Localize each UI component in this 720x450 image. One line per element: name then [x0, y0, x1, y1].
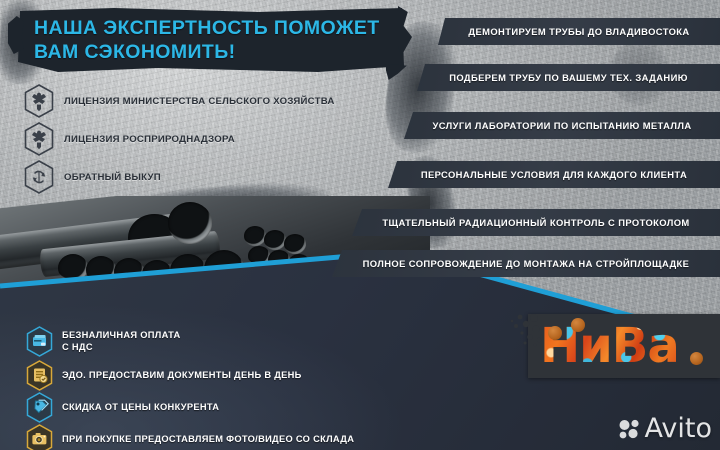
avito-watermark: Avito: [619, 415, 712, 442]
benefit-row-photo-video: ПРИ ПОКУПКЕ ПРЕДОСТАВЛЯЕМ ФОТО/ВИДЕО СО …: [26, 424, 354, 450]
logo-rust-dot: [690, 352, 703, 365]
service-banner-label: ДЕМОНТИРУЕМ ТРУБЫ ДО ВЛАДИВОСТОКА: [452, 26, 705, 37]
pipe-end: [58, 254, 88, 282]
benefit-label: ПРИ ПОКУПКЕ ПРЕДОСТАВЛЯЕМ ФОТО/ВИДЕО СО …: [62, 434, 354, 446]
benefit-label: БЕЗНАЛИЧНАЯ ОПЛАТА С НДС: [62, 330, 181, 353]
document-stamp-icon: [26, 360, 53, 391]
credential-label: ОБРАТНЫЙ ВЫКУП: [64, 172, 161, 183]
service-banner-spec-selection: ПОДБЕРЕМ ТРУБУ ПО ВАШЕМУ ТЕХ. ЗАДАНИЮ: [417, 64, 720, 91]
logo-rust-dot: [571, 318, 585, 332]
page-title: НАША ЭКСПЕРТНОСТЬ ПОМОЖЕТ ВАМ СЭКОНОМИТЬ…: [34, 16, 406, 64]
logo-rust-dot: [548, 326, 562, 340]
service-banner-label: ПОДБЕРЕМ ТРУБУ ПО ВАШЕМУ ТЕХ. ЗАДАНИЮ: [433, 72, 704, 83]
company-logo-text: НиВа: [540, 318, 679, 374]
service-banner-label: ТЩАТЕЛЬНЫЙ РАДИАЦИОННЫЙ КОНТРОЛЬ С ПРОТО…: [366, 217, 705, 228]
benefit-row-competitor-discount: СКИДКА ОТ ЦЕНЫ КОНКУРЕНТА: [26, 392, 219, 423]
benefit-row-edo-documents: ЭДО. ПРЕДОСТАВИМ ДОКУМЕНТЫ ДЕНЬ В ДЕНЬ: [26, 360, 302, 391]
avito-dots-icon: [619, 419, 641, 439]
cycle-arrows-icon: [24, 160, 54, 194]
paint-splatter: [508, 312, 542, 348]
credential-label: ЛИЦЕНЗИЯ РОСПРИРОДНАДЗОРА: [64, 134, 235, 145]
double-headed-eagle-emblem-icon: [24, 84, 54, 118]
pipe-end: [248, 246, 270, 266]
pipe-end: [284, 234, 306, 254]
service-banner-label: УСЛУГИ ЛАБОРАТОРИИ ПО ИСПЫТАНИЮ МЕТАЛЛА: [416, 120, 707, 131]
pipe-end: [168, 202, 212, 244]
benefit-label: ЭДО. ПРЕДОСТАВИМ ДОКУМЕНТЫ ДЕНЬ В ДЕНЬ: [62, 370, 302, 382]
service-banner-label: ПЕРСОНАЛЬНЫЕ УСЛОВИЯ ДЛЯ КАЖДОГО КЛИЕНТА: [405, 169, 703, 180]
price-tag-icon: [26, 392, 53, 423]
benefit-label: СКИДКА ОТ ЦЕНЫ КОНКУРЕНТА: [62, 402, 219, 414]
service-banner-full-support: ПОЛНОЕ СОПРОВОЖДЕНИЕ ДО МОНТАЖА НА СТРОЙ…: [332, 250, 720, 277]
service-banner-label: ПОЛНОЕ СОПРОВОЖДЕНИЕ ДО МОНТАЖА НА СТРОЙ…: [347, 258, 706, 269]
service-banner-demount: ДЕМОНТИРУЕМ ТРУБЫ ДО ВЛАДИВОСТОКА: [438, 18, 720, 45]
service-banner-personal-terms: ПЕРСОНАЛЬНЫЕ УСЛОВИЯ ДЛЯ КАЖДОГО КЛИЕНТА: [388, 161, 720, 188]
wallet-card-icon: [26, 326, 53, 357]
benefit-row-cashless-payment: БЕЗНАЛИЧНАЯ ОПЛАТА С НДС: [26, 326, 181, 357]
avito-wordmark: Avito: [645, 415, 712, 442]
service-banner-lab-testing: УСЛУГИ ЛАБОРАТОРИИ ПО ИСПЫТАНИЮ МЕТАЛЛА: [404, 112, 720, 139]
credential-row-agriculture-license: ЛИЦЕНЗИЯ МИНИСТЕРСТВА СЕЛЬСКОГО ХОЗЯЙСТВ…: [24, 84, 335, 118]
credential-row-buyback: ОБРАТНЫЙ ВЫКУП: [24, 160, 161, 194]
pipe-end: [244, 226, 266, 246]
camera-icon: [26, 424, 53, 450]
advertisement-banner: НАША ЭКСПЕРТНОСТЬ ПОМОЖЕТ ВАМ СЭКОНОМИТЬ…: [0, 0, 720, 450]
double-headed-eagle-emblem-icon: [24, 122, 54, 156]
pipe-end: [264, 230, 286, 250]
credential-label: ЛИЦЕНЗИЯ МИНИСТЕРСТВА СЕЛЬСКОГО ХОЗЯЙСТВ…: [64, 96, 335, 107]
credential-row-rosprirodnadzor-license: ЛИЦЕНЗИЯ РОСПРИРОДНАДЗОРА: [24, 122, 235, 156]
service-banner-radiation-control: ТЩАТЕЛЬНЫЙ РАДИАЦИОННЫЙ КОНТРОЛЬ С ПРОТО…: [352, 209, 720, 236]
